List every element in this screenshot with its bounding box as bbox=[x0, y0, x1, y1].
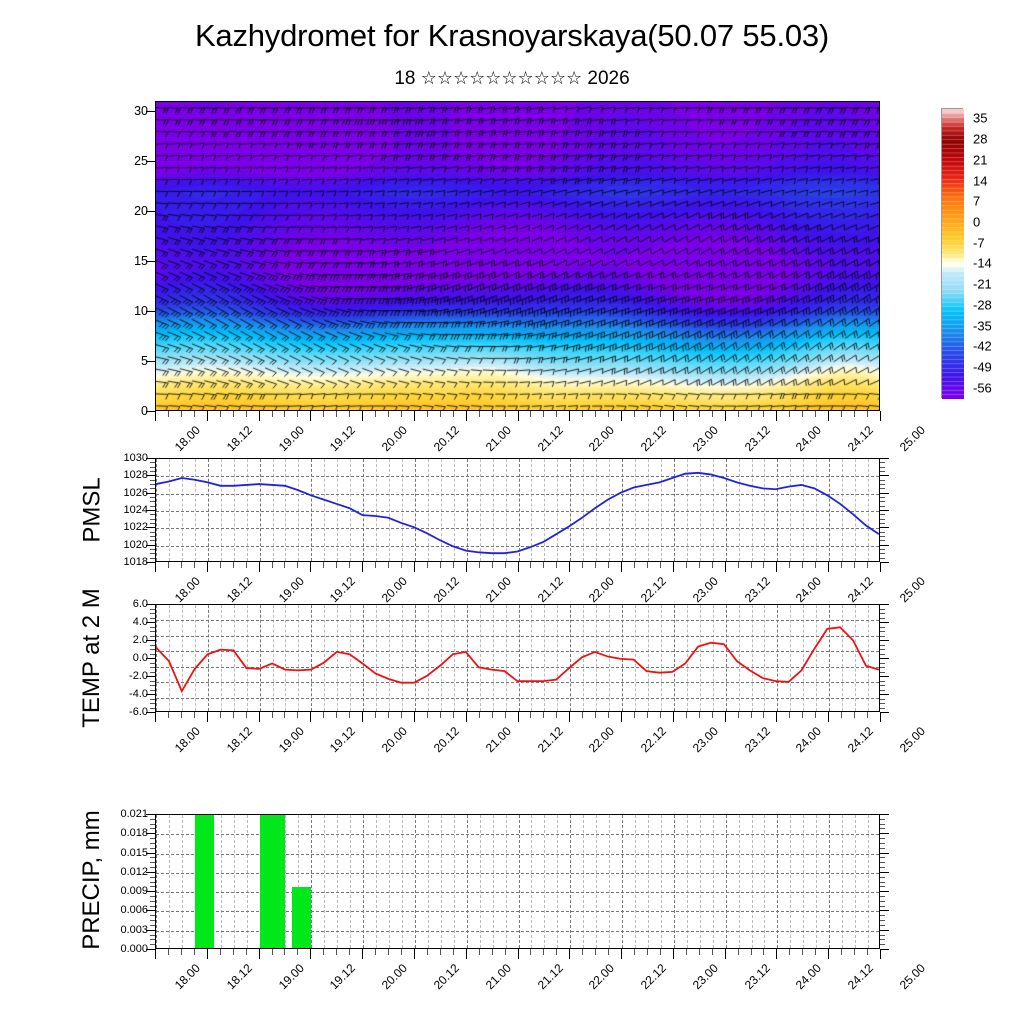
x-tick bbox=[259, 949, 260, 959]
x-minor-tick bbox=[841, 949, 842, 955]
x-minor-tick bbox=[634, 411, 635, 417]
y-minor-tick-right bbox=[880, 519, 885, 520]
y-tick-right bbox=[880, 930, 889, 931]
x-minor-tick bbox=[763, 949, 764, 955]
x-tick-label: 18.12 bbox=[224, 423, 255, 454]
y-tick-label: 6.0 bbox=[133, 598, 148, 610]
x-tick-label: 22.12 bbox=[638, 961, 669, 992]
colorbar-tick-label: 7 bbox=[973, 194, 980, 209]
x-tick-label: 19.00 bbox=[275, 574, 306, 605]
colorbar-tick-label: -42 bbox=[973, 339, 992, 354]
x-minor-tick bbox=[297, 712, 298, 718]
y-tick-right bbox=[880, 658, 889, 659]
y-tick-label: 0.009 bbox=[120, 885, 148, 897]
y-minor-tick bbox=[150, 920, 155, 921]
x-minor-tick bbox=[530, 562, 531, 568]
x-minor-tick bbox=[854, 562, 855, 568]
x-tick-label: 21.00 bbox=[482, 724, 513, 755]
x-tick bbox=[466, 949, 467, 959]
x-tick-label: 25.00 bbox=[897, 724, 928, 755]
x-minor-tick bbox=[388, 562, 389, 568]
x-minor-tick bbox=[181, 712, 182, 718]
y-minor-tick-right bbox=[880, 672, 885, 673]
x-tick bbox=[207, 411, 208, 421]
x-tick bbox=[310, 949, 311, 959]
x-tick bbox=[621, 712, 622, 722]
x-tick bbox=[828, 411, 829, 421]
colorbar-tick-label: 14 bbox=[973, 173, 987, 188]
x-minor-tick bbox=[841, 562, 842, 568]
y-minor-tick bbox=[150, 506, 155, 507]
y-minor-tick-right bbox=[880, 848, 885, 849]
y-minor-tick bbox=[150, 925, 155, 926]
y-minor-tick bbox=[150, 484, 155, 485]
y-minor-tick-right bbox=[880, 523, 885, 524]
colorbar-tick-label: -28 bbox=[973, 297, 992, 312]
subtitle-year: 2026 bbox=[587, 68, 629, 89]
x-minor-tick bbox=[284, 562, 285, 568]
x-minor-tick bbox=[634, 562, 635, 568]
x-minor-tick bbox=[284, 712, 285, 718]
y-tick-right bbox=[880, 458, 889, 459]
x-minor-tick bbox=[712, 411, 713, 417]
x-minor-tick bbox=[763, 411, 764, 417]
x-minor-tick bbox=[738, 712, 739, 718]
x-tick bbox=[880, 949, 881, 959]
x-minor-tick bbox=[763, 562, 764, 568]
x-tick-label: 21.12 bbox=[534, 724, 565, 755]
x-tick bbox=[725, 411, 726, 421]
x-minor-tick bbox=[789, 712, 790, 718]
x-tick bbox=[310, 562, 311, 572]
y-minor-tick bbox=[150, 857, 155, 858]
y-minor-tick-right bbox=[880, 920, 885, 921]
x-tick-label: 18.00 bbox=[172, 423, 203, 454]
y-minor-tick-right bbox=[880, 882, 885, 883]
x-minor-tick bbox=[427, 411, 428, 417]
x-tick bbox=[518, 562, 519, 572]
y-minor-tick bbox=[150, 882, 155, 883]
y-minor-tick bbox=[150, 536, 155, 537]
x-minor-tick bbox=[595, 712, 596, 718]
x-minor-tick bbox=[608, 411, 609, 417]
x-minor-tick bbox=[582, 411, 583, 417]
y-minor-tick bbox=[150, 480, 155, 481]
x-tick bbox=[776, 411, 777, 421]
x-tick bbox=[466, 411, 467, 421]
x-tick-label: 19.12 bbox=[327, 724, 358, 755]
x-minor-tick bbox=[556, 411, 557, 417]
x-minor-tick bbox=[233, 712, 234, 718]
x-tick-label: 21.00 bbox=[482, 961, 513, 992]
y-minor-tick-right bbox=[880, 467, 885, 468]
x-minor-tick bbox=[660, 949, 661, 955]
x-minor-tick bbox=[608, 712, 609, 718]
y-minor-tick-right bbox=[880, 553, 885, 554]
x-tick bbox=[207, 562, 208, 572]
x-minor-tick bbox=[272, 949, 273, 955]
y-tick-label: 0.000 bbox=[120, 943, 148, 955]
temp-series-line bbox=[156, 605, 879, 712]
x-tick-label: 21.00 bbox=[482, 423, 513, 454]
colorbar-tick-label: 28 bbox=[973, 132, 987, 147]
x-minor-tick bbox=[505, 949, 506, 955]
y-minor-tick bbox=[150, 939, 155, 940]
x-minor-tick bbox=[634, 712, 635, 718]
x-tick-label: 24.12 bbox=[845, 961, 876, 992]
x-minor-tick bbox=[453, 949, 454, 955]
x-tick-label: 19.12 bbox=[327, 574, 358, 605]
x-minor-tick bbox=[168, 712, 169, 718]
y-minor-tick bbox=[150, 685, 155, 686]
y-minor-tick-right bbox=[880, 645, 885, 646]
x-minor-tick bbox=[505, 712, 506, 718]
x-minor-tick bbox=[854, 712, 855, 718]
x-tick bbox=[259, 712, 260, 722]
y-minor-tick bbox=[150, 819, 155, 820]
x-tick-label: 21.12 bbox=[534, 423, 565, 454]
y-tick-label: 0.015 bbox=[120, 847, 148, 859]
y-minor-tick-right bbox=[880, 819, 885, 820]
x-tick bbox=[259, 562, 260, 572]
y-minor-tick-right bbox=[880, 654, 885, 655]
x-tick bbox=[518, 712, 519, 722]
y-tick-right bbox=[880, 640, 889, 641]
x-minor-tick bbox=[375, 411, 376, 417]
x-tick-label: 18.00 bbox=[172, 574, 203, 605]
y-minor-tick-right bbox=[880, 828, 885, 829]
y-tick-right bbox=[880, 527, 889, 528]
pmsl-series-line bbox=[156, 459, 879, 562]
x-tick-label: 19.00 bbox=[275, 423, 306, 454]
x-minor-tick bbox=[530, 411, 531, 417]
y-minor-tick bbox=[150, 649, 155, 650]
colorbar-gradient bbox=[942, 109, 964, 399]
x-minor-tick bbox=[388, 411, 389, 417]
x-minor-tick bbox=[194, 949, 195, 955]
x-minor-tick bbox=[349, 562, 350, 568]
y-tick-label: 25 bbox=[134, 154, 148, 168]
x-tick bbox=[880, 562, 881, 572]
x-minor-tick bbox=[375, 949, 376, 955]
y-minor-tick-right bbox=[880, 877, 885, 878]
x-minor-tick bbox=[427, 949, 428, 955]
x-tick bbox=[155, 712, 156, 722]
x-minor-tick bbox=[738, 562, 739, 568]
y-minor-tick-right bbox=[880, 488, 885, 489]
y-minor-tick-right bbox=[880, 627, 885, 628]
x-tick-label: 22.00 bbox=[586, 961, 617, 992]
temp-axis-title: TEMP at 2 M bbox=[78, 588, 106, 728]
x-tick-label: 20.12 bbox=[431, 574, 462, 605]
y-tick-right bbox=[880, 604, 889, 605]
x-tick bbox=[518, 949, 519, 959]
y-minor-tick bbox=[150, 488, 155, 489]
precip-axis-title: PRECIP, mm bbox=[78, 810, 106, 950]
x-minor-tick bbox=[699, 411, 700, 417]
y-minor-tick-right bbox=[880, 944, 885, 945]
y-minor-tick-right bbox=[880, 708, 885, 709]
x-tick-label: 24.00 bbox=[793, 724, 824, 755]
x-minor-tick bbox=[660, 411, 661, 417]
x-minor-tick bbox=[440, 562, 441, 568]
y-minor-tick bbox=[150, 497, 155, 498]
y-tick-right bbox=[880, 694, 889, 695]
x-minor-tick bbox=[349, 949, 350, 955]
y-minor-tick bbox=[150, 896, 155, 897]
x-minor-tick bbox=[440, 411, 441, 417]
y-minor-tick-right bbox=[880, 906, 885, 907]
x-minor-tick bbox=[401, 562, 402, 568]
y-minor-tick bbox=[150, 549, 155, 550]
y-tick-label: 0 bbox=[141, 404, 148, 418]
y-tick-label: 2.0 bbox=[133, 634, 148, 646]
x-tick bbox=[725, 949, 726, 959]
x-minor-tick bbox=[505, 411, 506, 417]
x-minor-tick bbox=[595, 411, 596, 417]
x-minor-tick bbox=[751, 712, 752, 718]
x-minor-tick bbox=[284, 949, 285, 955]
x-tick bbox=[466, 562, 467, 572]
y-tick-right bbox=[880, 814, 889, 815]
x-minor-tick bbox=[789, 411, 790, 417]
x-minor-tick bbox=[815, 712, 816, 718]
x-minor-tick bbox=[815, 949, 816, 955]
pmsl-panel: 1018102010221024102610281030 18.0018.121… bbox=[155, 458, 880, 562]
y-minor-tick bbox=[150, 514, 155, 515]
y-minor-tick bbox=[150, 672, 155, 673]
colorbar-tick-label: -49 bbox=[973, 359, 992, 374]
y-minor-tick bbox=[150, 663, 155, 664]
x-tick-label: 22.00 bbox=[586, 423, 617, 454]
x-minor-tick bbox=[246, 411, 247, 417]
x-tick-label: 20.00 bbox=[379, 574, 410, 605]
y-minor-tick-right bbox=[880, 703, 885, 704]
x-tick-label: 19.12 bbox=[327, 423, 358, 454]
x-minor-tick bbox=[802, 411, 803, 417]
x-minor-tick bbox=[233, 949, 234, 955]
colorbar-tick-label: -7 bbox=[973, 235, 985, 250]
y-tick-label: -4.0 bbox=[129, 688, 148, 700]
y-minor-tick bbox=[150, 862, 155, 863]
x-tick bbox=[362, 712, 363, 722]
colorbar-tick-label: 21 bbox=[973, 152, 987, 167]
x-tick-label: 24.00 bbox=[793, 423, 824, 454]
y-minor-tick bbox=[150, 519, 155, 520]
y-minor-tick bbox=[150, 906, 155, 907]
y-minor-tick-right bbox=[880, 506, 885, 507]
y-tick-right bbox=[880, 833, 889, 834]
y-tick-label: 1018 bbox=[124, 556, 148, 568]
subtitle-day: 18 bbox=[394, 68, 415, 89]
x-tick bbox=[362, 949, 363, 959]
x-minor-tick bbox=[867, 411, 868, 417]
y-minor-tick-right bbox=[880, 649, 885, 650]
x-tick bbox=[621, 562, 622, 572]
x-tick bbox=[310, 712, 311, 722]
x-minor-tick bbox=[608, 949, 609, 955]
x-tick-label: 23.12 bbox=[741, 724, 772, 755]
x-minor-tick bbox=[751, 949, 752, 955]
page-title: Kazhydromet for Krasnoyarskaya(50.07 55.… bbox=[0, 18, 1024, 54]
x-minor-tick bbox=[388, 949, 389, 955]
x-minor-tick bbox=[815, 411, 816, 417]
x-minor-tick bbox=[323, 949, 324, 955]
x-minor-tick bbox=[453, 562, 454, 568]
x-tick-label: 22.12 bbox=[638, 423, 669, 454]
x-minor-tick bbox=[582, 712, 583, 718]
x-minor-tick bbox=[686, 562, 687, 568]
x-minor-tick bbox=[453, 712, 454, 718]
y-tick-label: 1022 bbox=[124, 521, 148, 533]
x-tick-label: 25.00 bbox=[897, 423, 928, 454]
x-minor-tick bbox=[647, 411, 648, 417]
y-minor-tick bbox=[150, 667, 155, 668]
x-minor-tick bbox=[492, 411, 493, 417]
colorbar-tick-label: 0 bbox=[973, 214, 980, 229]
x-minor-tick bbox=[699, 562, 700, 568]
y-tick-label: 1020 bbox=[124, 539, 148, 551]
x-tick-label: 18.12 bbox=[224, 724, 255, 755]
x-minor-tick bbox=[440, 949, 441, 955]
x-minor-tick bbox=[194, 712, 195, 718]
temp-path bbox=[156, 627, 879, 691]
x-tick bbox=[880, 712, 881, 722]
temp-panel: -6.0-4.0-2.00.02.04.06.0 18.0018.1219.00… bbox=[155, 604, 880, 712]
x-minor-tick bbox=[492, 712, 493, 718]
y-tick-label: 0.012 bbox=[120, 866, 148, 878]
y-tick-right bbox=[880, 475, 889, 476]
cross-section-plot-area bbox=[155, 101, 880, 411]
x-tick bbox=[725, 712, 726, 722]
x-minor-tick bbox=[349, 712, 350, 718]
y-tick-label: 1030 bbox=[124, 452, 148, 464]
x-tick-label: 20.12 bbox=[431, 423, 462, 454]
x-tick bbox=[466, 712, 467, 722]
y-tick-right bbox=[880, 872, 889, 873]
x-tick-label: 19.12 bbox=[327, 961, 358, 992]
y-minor-tick bbox=[150, 471, 155, 472]
x-minor-tick bbox=[233, 411, 234, 417]
x-tick-label: 23.12 bbox=[741, 423, 772, 454]
x-minor-tick bbox=[556, 712, 557, 718]
y-minor-tick bbox=[150, 699, 155, 700]
x-tick bbox=[414, 712, 415, 722]
x-minor-tick bbox=[194, 562, 195, 568]
subtitle-month-glyphs: ☆☆☆☆☆☆☆☆☆☆ bbox=[421, 68, 582, 88]
y-minor-tick bbox=[150, 877, 155, 878]
y-minor-tick bbox=[150, 935, 155, 936]
y-minor-tick-right bbox=[880, 501, 885, 502]
x-minor-tick bbox=[272, 712, 273, 718]
x-minor-tick bbox=[492, 562, 493, 568]
y-tick-label: 0.006 bbox=[120, 904, 148, 916]
x-minor-tick bbox=[427, 712, 428, 718]
x-tick bbox=[880, 411, 881, 421]
y-minor-tick bbox=[150, 467, 155, 468]
x-minor-tick bbox=[375, 562, 376, 568]
y-minor-tick-right bbox=[880, 484, 885, 485]
precip-bar bbox=[201, 814, 214, 948]
x-minor-tick bbox=[220, 411, 221, 417]
x-minor-tick bbox=[453, 411, 454, 417]
colorbar-tick-label: -56 bbox=[973, 380, 992, 395]
x-minor-tick bbox=[336, 712, 337, 718]
y-minor-tick-right bbox=[880, 939, 885, 940]
x-tick-label: 21.12 bbox=[534, 961, 565, 992]
x-minor-tick bbox=[686, 712, 687, 718]
y-tick-label: 4.0 bbox=[133, 616, 148, 628]
x-tick bbox=[569, 562, 570, 572]
y-minor-tick-right bbox=[880, 462, 885, 463]
x-tick-label: 24.12 bbox=[845, 724, 876, 755]
y-minor-tick bbox=[150, 838, 155, 839]
pmsl-path bbox=[156, 473, 879, 553]
x-minor-tick bbox=[401, 949, 402, 955]
y-minor-tick-right bbox=[880, 663, 885, 664]
y-minor-tick bbox=[150, 915, 155, 916]
x-tick-label: 25.00 bbox=[897, 574, 928, 605]
x-minor-tick bbox=[181, 562, 182, 568]
x-tick-label: 24.00 bbox=[793, 574, 824, 605]
x-minor-tick bbox=[479, 562, 480, 568]
x-tick-label: 20.00 bbox=[379, 423, 410, 454]
y-tick-label: 20 bbox=[134, 204, 148, 218]
x-minor-tick bbox=[272, 562, 273, 568]
x-minor-tick bbox=[751, 562, 752, 568]
x-tick-label: 22.00 bbox=[586, 724, 617, 755]
precip-bar bbox=[273, 814, 286, 948]
y-minor-tick bbox=[150, 609, 155, 610]
y-minor-tick-right bbox=[880, 540, 885, 541]
y-tick-right bbox=[880, 949, 889, 950]
x-minor-tick bbox=[349, 411, 350, 417]
x-minor-tick bbox=[220, 712, 221, 718]
x-minor-tick bbox=[220, 562, 221, 568]
x-minor-tick bbox=[582, 949, 583, 955]
x-tick bbox=[776, 562, 777, 572]
x-tick-label: 24.00 bbox=[793, 961, 824, 992]
precip-panel: 0.0000.0030.0060.0090.0120.0150.0180.021… bbox=[155, 814, 880, 949]
x-minor-tick bbox=[505, 562, 506, 568]
x-minor-tick bbox=[543, 562, 544, 568]
x-tick-label: 23.00 bbox=[690, 724, 721, 755]
y-minor-tick-right bbox=[880, 925, 885, 926]
x-minor-tick bbox=[763, 712, 764, 718]
x-tick bbox=[259, 411, 260, 421]
y-minor-tick-right bbox=[880, 480, 885, 481]
x-minor-tick bbox=[336, 949, 337, 955]
x-tick-label: 20.12 bbox=[431, 724, 462, 755]
y-tick-right bbox=[880, 853, 889, 854]
y-tick-label: 15 bbox=[134, 254, 148, 268]
y-minor-tick bbox=[150, 645, 155, 646]
x-minor-tick bbox=[168, 411, 169, 417]
y-tick-label: -6.0 bbox=[129, 706, 148, 718]
x-minor-tick bbox=[712, 562, 713, 568]
y-minor-tick-right bbox=[880, 896, 885, 897]
x-minor-tick bbox=[608, 562, 609, 568]
x-tick bbox=[207, 712, 208, 722]
y-minor-tick-right bbox=[880, 514, 885, 515]
y-tick-label: 1026 bbox=[124, 487, 148, 499]
x-tick-label: 20.00 bbox=[379, 724, 410, 755]
x-tick bbox=[776, 712, 777, 722]
x-tick bbox=[310, 411, 311, 421]
x-tick-label: 20.12 bbox=[431, 961, 462, 992]
x-minor-tick bbox=[323, 562, 324, 568]
x-minor-tick bbox=[634, 949, 635, 955]
